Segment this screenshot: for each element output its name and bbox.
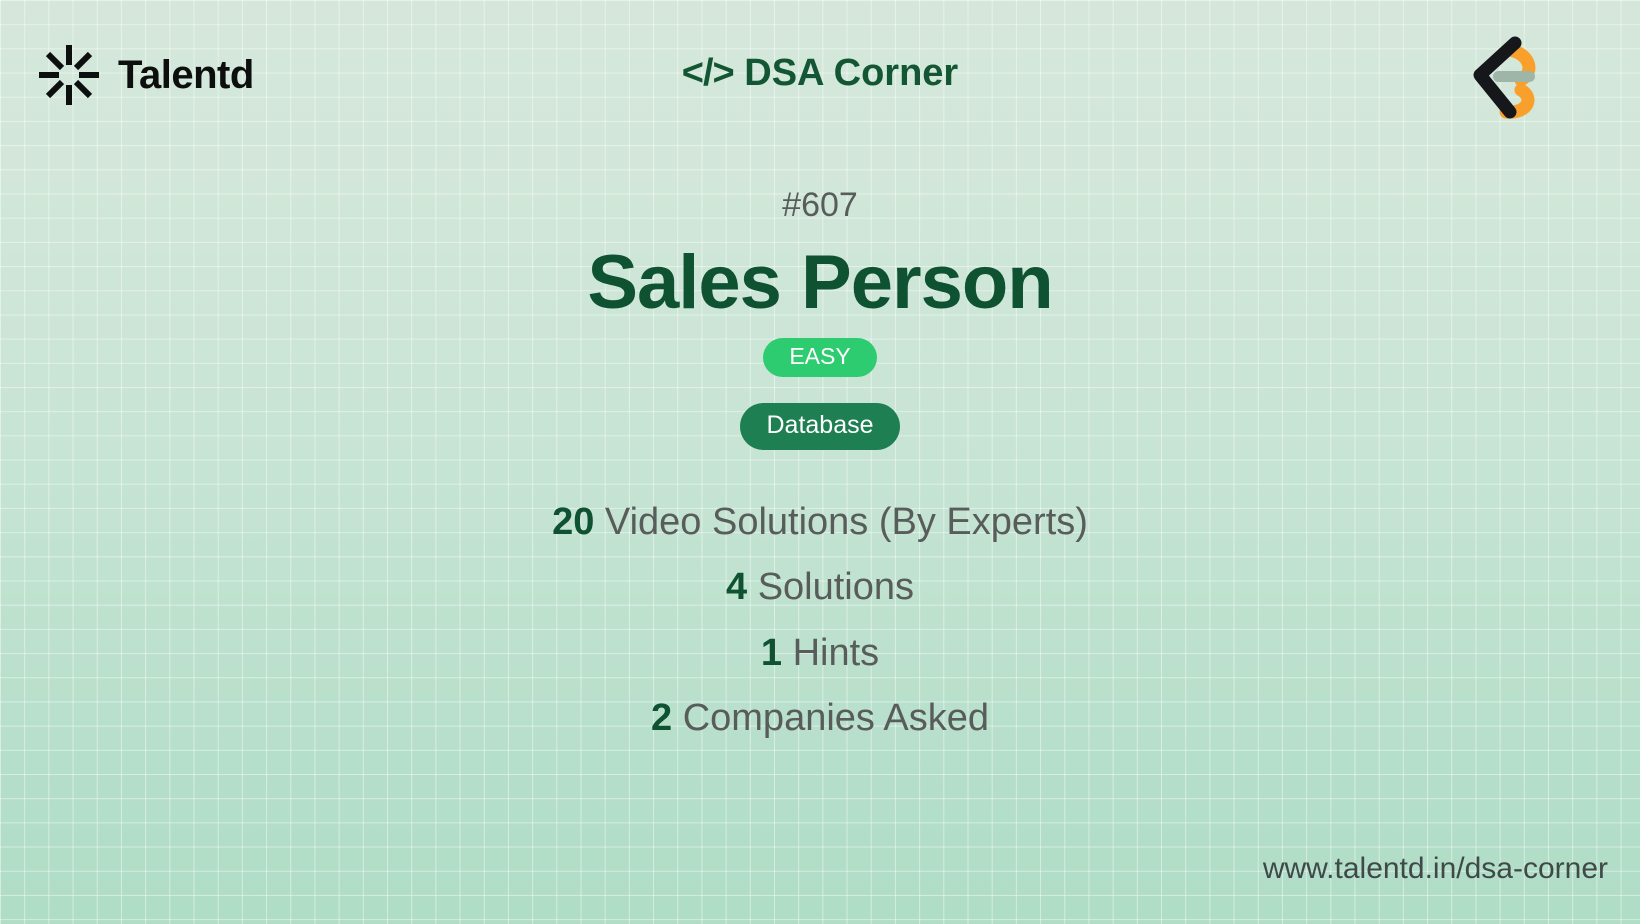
stat-label: Hints bbox=[793, 632, 880, 674]
stat-label: Video Solutions (By Experts) bbox=[605, 501, 1088, 543]
poster-canvas: Talentd </> DSA Corner #607 Sales Person… bbox=[0, 0, 1640, 924]
stat-count: 4 bbox=[726, 566, 747, 608]
chevron-c-logo-icon bbox=[1453, 28, 1545, 120]
page-title-text: DSA Corner bbox=[744, 52, 958, 94]
stat-row-solutions: 4 Solutions bbox=[0, 555, 1640, 620]
page-title: </> DSA Corner bbox=[0, 52, 1640, 95]
problem-title: Sales Person bbox=[0, 242, 1640, 324]
stat-count: 2 bbox=[651, 697, 672, 739]
stat-count: 20 bbox=[552, 501, 594, 543]
problem-number: #607 bbox=[0, 185, 1640, 226]
stat-count: 1 bbox=[761, 632, 782, 674]
footer-url[interactable]: www.talentd.in/dsa-corner bbox=[1263, 852, 1608, 886]
main-content: #607 Sales Person EASY Database 20 Video… bbox=[0, 185, 1640, 751]
stat-label: Solutions bbox=[758, 566, 914, 608]
difficulty-badge[interactable]: EASY bbox=[763, 338, 876, 377]
stat-row-companies-asked: 2 Companies Asked bbox=[0, 686, 1640, 751]
stat-row-video-solutions: 20 Video Solutions (By Experts) bbox=[0, 490, 1640, 555]
stat-row-hints: 1 Hints bbox=[0, 621, 1640, 686]
header-bar: Talentd </> DSA Corner bbox=[0, 0, 1640, 155]
code-brackets-icon: </> bbox=[682, 52, 734, 94]
topic-badge[interactable]: Database bbox=[740, 403, 899, 450]
stat-label: Companies Asked bbox=[683, 697, 989, 739]
difficulty-badge-row: EASY bbox=[0, 338, 1640, 403]
stats-list: 20 Video Solutions (By Experts) 4 Soluti… bbox=[0, 490, 1640, 751]
topic-badge-row: Database bbox=[0, 403, 1640, 450]
